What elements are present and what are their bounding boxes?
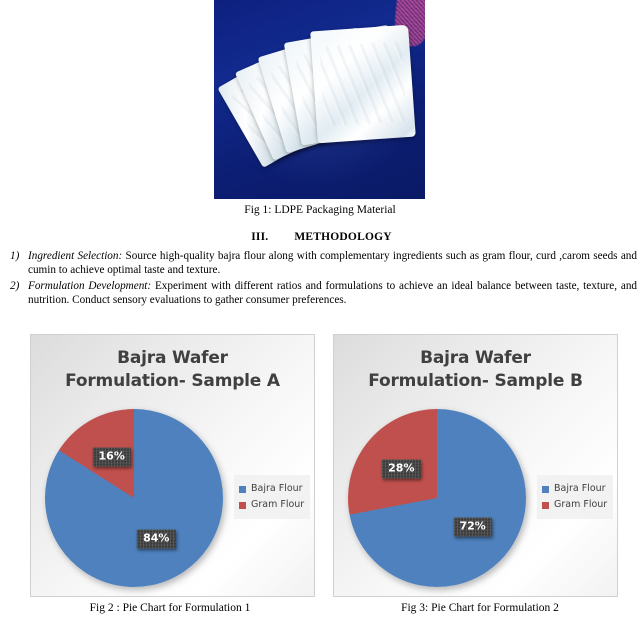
pie-chart-sample-b: Bajra Wafer Formulation- Sample B 72% 28… — [333, 334, 618, 597]
figure-2-caption: Fig 2 : Pie Chart for Formulation 1 — [20, 601, 320, 615]
legend-item-bajra-flour: Bajra Flour — [239, 482, 304, 496]
chart-title: Bajra Wafer Formulation- Sample A — [31, 347, 314, 393]
legend-label: Gram Flour — [554, 498, 607, 512]
legend-item-gram-flour: Gram Flour — [542, 498, 607, 512]
legend-label: Bajra Flour — [554, 482, 606, 496]
list-item-body: Formulation Development: Experiment with… — [28, 279, 637, 308]
slice-label-gram-flour: 28% — [382, 459, 420, 478]
list-item: 2) Formulation Development: Experiment w… — [6, 279, 637, 308]
chart-title: Bajra Wafer Formulation- Sample B — [334, 347, 617, 393]
legend-item-gram-flour: Gram Flour — [239, 498, 304, 512]
list-item-marker: 1) — [6, 249, 28, 263]
legend-label: Gram Flour — [251, 498, 304, 512]
chart-legend: Bajra Flour Gram Flour — [234, 475, 310, 519]
chart-title-line-2: Formulation- Sample A — [31, 370, 314, 393]
chart-legend: Bajra Flour Gram Flour — [537, 475, 613, 519]
ldpe-packaging-photo — [214, 0, 425, 199]
list-item-lead: Ingredient Selection: — [28, 250, 122, 262]
chart-title-line-2: Formulation- Sample B — [334, 370, 617, 393]
figure-1-caption: Fig 1: LDPE Packaging Material — [160, 203, 480, 217]
legend-swatch-icon — [239, 486, 246, 493]
list-item-lead: Formulation Development: — [28, 280, 151, 292]
chart-title-line-1: Bajra Wafer — [31, 347, 314, 370]
pie-graphic — [45, 409, 223, 587]
legend-swatch-icon — [542, 502, 549, 509]
slice-label-bajra-flour: 84% — [137, 529, 175, 548]
methodology-heading: III.METHODOLOGY — [0, 231, 643, 243]
ldpe-bag — [310, 25, 416, 144]
list-item: 1) Ingredient Selection: Source high-qua… — [6, 249, 637, 278]
section-number: III. — [251, 231, 268, 243]
legend-swatch-icon — [542, 486, 549, 493]
figure-3-caption: Fig 3: Pie Chart for Formulation 2 — [330, 601, 630, 615]
list-item-body: Ingredient Selection: Source high-qualit… — [28, 249, 637, 278]
chart-title-line-1: Bajra Wafer — [334, 347, 617, 370]
slice-label-bajra-flour: 72% — [453, 518, 491, 537]
legend-label: Bajra Flour — [251, 482, 303, 496]
pie-chart-sample-a: Bajra Wafer Formulation- Sample A 84% 16… — [30, 334, 315, 597]
list-item-marker: 2) — [6, 279, 28, 293]
methodology-list: 1) Ingredient Selection: Source high-qua… — [6, 249, 637, 308]
legend-swatch-icon — [239, 502, 246, 509]
pie-graphic — [348, 409, 526, 587]
bag-crease — [319, 41, 407, 127]
legend-item-bajra-flour: Bajra Flour — [542, 482, 607, 496]
slice-label-gram-flour: 16% — [93, 448, 131, 467]
section-title: METHODOLOGY — [294, 231, 391, 243]
pie-area: 72% 28% — [348, 409, 526, 587]
pie-area: 84% 16% — [45, 409, 223, 587]
